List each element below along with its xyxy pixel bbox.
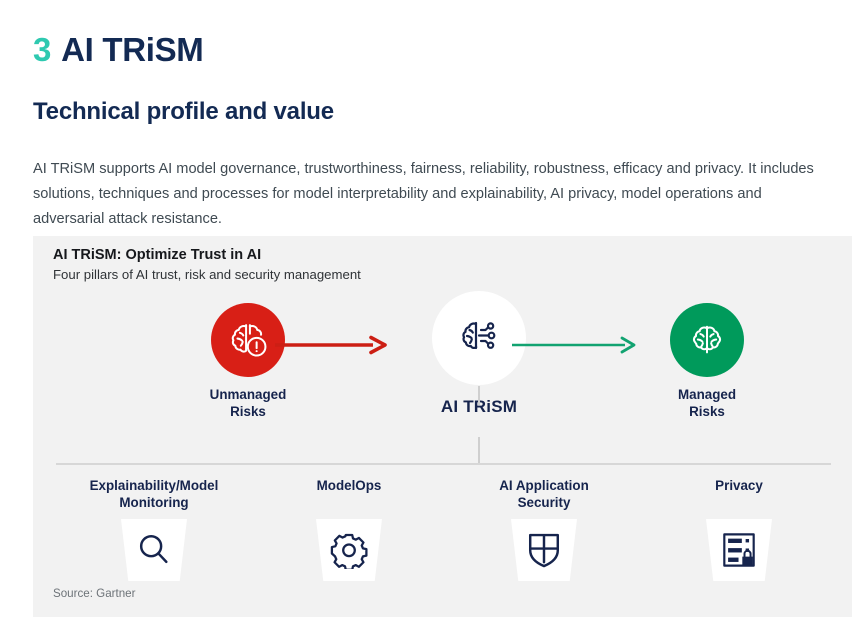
page-number: 3 — [33, 31, 51, 68]
pillar-label-l1: Explainability/Model — [64, 477, 244, 494]
panel-subtitle: Four pillars of AI trust, risk and secur… — [53, 267, 361, 282]
managed-risks-circle — [670, 303, 744, 377]
pillar-label: Privacy — [649, 477, 829, 494]
magnifier-icon — [135, 531, 173, 569]
source-label: Source: Gartner — [53, 587, 135, 600]
page-subtitle: Technical profile and value — [33, 98, 334, 126]
pillar-privacy[interactable]: Privacy — [649, 477, 829, 581]
shield-icon — [527, 531, 561, 569]
page-title: 3AI TRiSM — [33, 31, 204, 69]
connector-line-top — [478, 386, 480, 405]
page-title-text: AI TRiSM — [61, 31, 203, 68]
pillar-label: Explainability/Model Monitoring — [64, 477, 244, 511]
arrow-red — [273, 334, 388, 356]
pillar-label: AI Application Security — [454, 477, 634, 511]
node-unmanaged-risks[interactable]: Unmanaged Risks — [174, 303, 322, 420]
pillar-label: ModelOps — [259, 477, 439, 494]
arrow-green — [510, 334, 638, 356]
connector-line-bottom — [478, 437, 480, 463]
brain-alert-icon — [225, 317, 271, 363]
pillar-shape — [316, 519, 382, 581]
pillar-label-l2: Monitoring — [64, 494, 244, 511]
panel-title: AI TRiSM: Optimize Trust in AI — [53, 247, 261, 263]
pillar-ai-application-security[interactable]: AI Application Security — [454, 477, 634, 581]
diagram-panel: AI TRiSM: Optimize Trust in AI Four pill… — [33, 236, 852, 617]
pillar-explainability-model-monitoring[interactable]: Explainability/Model Monitoring — [64, 477, 244, 581]
managed-risks-label: Managed Risks — [633, 386, 781, 420]
intro-paragraph: AI TRiSM supports AI model governance, t… — [33, 157, 823, 232]
managed-risks-label-l1: Managed — [633, 386, 781, 403]
unmanaged-risks-label-l2: Risks — [174, 403, 322, 420]
brain-circuit-icon — [455, 314, 503, 362]
node-managed-risks[interactable]: Managed Risks — [633, 303, 781, 420]
pillar-label-l1: ModelOps — [259, 477, 439, 494]
pillar-shape — [706, 519, 772, 581]
pillar-label-l1: Privacy — [649, 477, 829, 494]
pillar-shape — [121, 519, 187, 581]
pillar-shape — [511, 519, 577, 581]
gear-icon — [330, 531, 368, 569]
pillar-label-l1: AI Application — [454, 477, 634, 494]
divider-line — [56, 463, 831, 465]
unmanaged-risks-label: Unmanaged Risks — [174, 386, 322, 420]
brain-icon — [685, 318, 729, 362]
managed-risks-label-l2: Risks — [633, 403, 781, 420]
document-lock-icon — [721, 531, 757, 569]
pillar-label-l2: Security — [454, 494, 634, 511]
pillar-modelops[interactable]: ModelOps — [259, 477, 439, 581]
unmanaged-risks-label-l1: Unmanaged — [174, 386, 322, 403]
